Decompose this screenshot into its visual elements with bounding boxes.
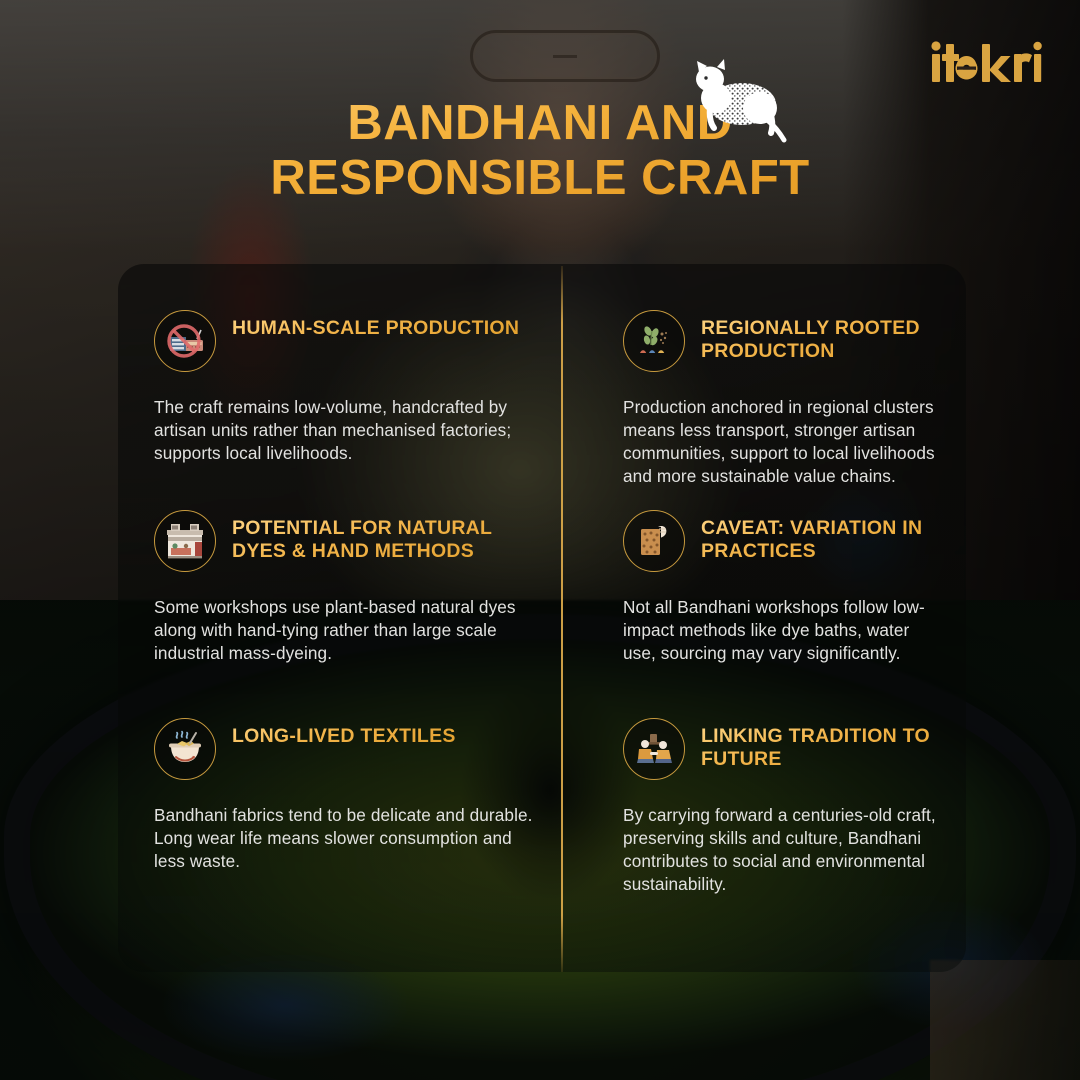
cat-illustration-icon <box>686 52 798 156</box>
steaming-dye-pot-icon <box>154 718 216 780</box>
card-header: CAVEAT: VARIATION IN PRACTICES <box>623 510 940 572</box>
card-header: HUMAN-SCALE PRODUCTION <box>154 310 535 372</box>
title-line-1: BANDHANI AND <box>347 96 732 150</box>
card-title: POTENTIAL FOR NATURAL DYES & HAND METHOD… <box>232 510 532 563</box>
card-body: By carrying forward a centuries-old craf… <box>623 804 940 896</box>
card-long-lived-textiles[interactable]: LONG-LIVED TEXTILES Bandhani fabrics ten… <box>118 718 561 1018</box>
natural-dye-leaves-icon <box>623 310 685 372</box>
card-body: Bandhani fabrics tend to be delicate and… <box>154 804 535 873</box>
card-header: LINKING TRADITION TO FUTURE <box>623 718 940 780</box>
card-title: CAVEAT: VARIATION IN PRACTICES <box>701 510 940 563</box>
workshop-building-icon <box>154 510 216 572</box>
card-human-scale-production[interactable]: HUMAN-SCALE PRODUCTION The craft remains… <box>118 310 561 510</box>
no-factory-icon <box>154 310 216 372</box>
hand-holding-fabric-icon <box>623 510 685 572</box>
card-title: LONG-LIVED TEXTILES <box>232 718 456 748</box>
card-header: REGIONALLY ROOTED PRODUCTION <box>623 310 940 372</box>
card-title: REGIONALLY ROOTED PRODUCTION <box>701 310 940 363</box>
card-regionally-rooted-production[interactable]: REGIONALLY ROOTED PRODUCTION Production … <box>561 310 966 510</box>
card-linking-tradition-future[interactable]: LINKING TRADITION TO FUTURE By carrying … <box>561 718 966 1018</box>
two-artisans-icon <box>623 718 685 780</box>
card-natural-dyes-hand-methods[interactable]: POTENTIAL FOR NATURAL DYES & HAND METHOD… <box>118 510 561 718</box>
infographic-poster: BANDHANI AND RESPONSIBLE CRAFT <box>0 0 1080 1080</box>
card-body: Not all Bandhani workshops follow low-im… <box>623 596 940 665</box>
card-body: Some workshops use plant-based natural d… <box>154 596 535 665</box>
cards-grid: HUMAN-SCALE PRODUCTION The craft remains… <box>118 264 966 972</box>
itokri-logo[interactable] <box>930 38 1042 90</box>
card-header: POTENTIAL FOR NATURAL DYES & HAND METHOD… <box>154 510 535 572</box>
card-body: Production anchored in regional clusters… <box>623 396 940 488</box>
card-body: The craft remains low-volume, handcrafte… <box>154 396 535 465</box>
title-line-2: RESPONSIBLE CRAFT <box>270 151 809 205</box>
card-header: LONG-LIVED TEXTILES <box>154 718 535 780</box>
card-caveat-variation-practices[interactable]: CAVEAT: VARIATION IN PRACTICES Not all B… <box>561 510 966 718</box>
page-title: BANDHANI AND RESPONSIBLE CRAFT <box>0 96 1080 207</box>
card-title: HUMAN-SCALE PRODUCTION <box>232 310 519 340</box>
card-title: LINKING TRADITION TO FUTURE <box>701 718 940 771</box>
